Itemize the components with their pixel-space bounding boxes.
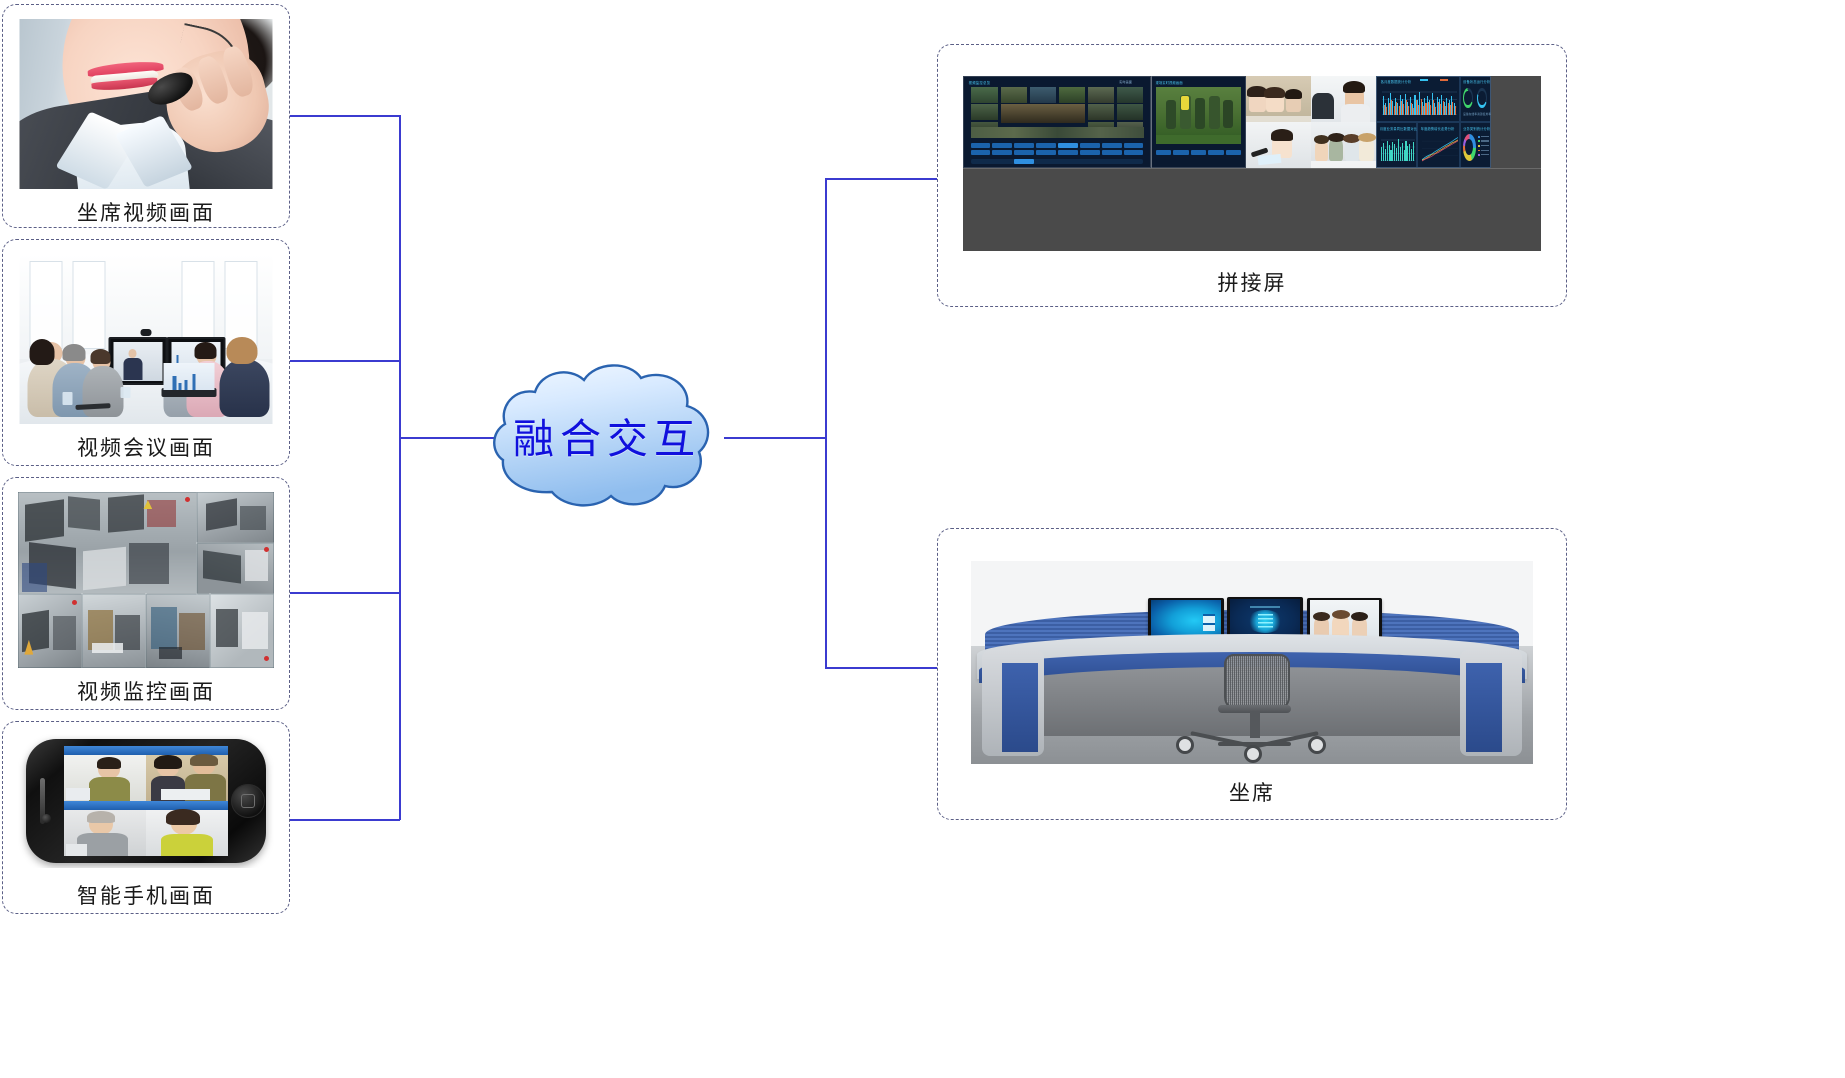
connector-cloud-to-bus-right: [724, 437, 826, 439]
connector-video-surveillance: [289, 592, 400, 594]
agent-desk-thumbnail: [971, 561, 1533, 764]
connector-right-bus: [825, 178, 827, 668]
input-panel-label: 智能手机画面: [3, 880, 289, 910]
agent-video-thumbnail: [20, 19, 273, 189]
output-panel-label: 坐席: [938, 777, 1566, 807]
video-wall-photo: 视频监控总览 实时画面: [963, 76, 1541, 251]
input-panel-video-surveillance[interactable]: 视频监控画面: [2, 477, 290, 710]
connector-agent-desk: [825, 667, 937, 669]
video-conference-thumbnail: [20, 254, 273, 424]
video-wall-thumbnail: 视频监控总览 实时画面: [963, 76, 1541, 251]
connector-agent-video: [289, 115, 400, 117]
connector-video-wall: [825, 178, 937, 180]
agent-headset-photo: [20, 19, 273, 189]
diagram-canvas: 坐席视频画面: [0, 0, 1845, 1078]
input-panel-video-conference[interactable]: 视频会议画面: [2, 239, 290, 466]
input-panel-label: 坐席视频画面: [3, 197, 289, 227]
output-panel-agent-desk[interactable]: 坐席: [937, 528, 1567, 820]
input-panel-label: 视频会议画面: [3, 432, 289, 462]
output-panel-label: 拼接屏: [938, 267, 1566, 297]
console-desk-photo: [971, 561, 1533, 764]
video-surveillance-thumbnail: [18, 492, 274, 668]
cctv-grid-photo: [18, 492, 274, 668]
input-panel-label: 视频监控画面: [3, 676, 289, 706]
smartphone-thumbnail: [18, 734, 274, 868]
input-panel-smartphone[interactable]: 智能手机画面: [2, 721, 290, 914]
output-panel-video-wall[interactable]: 视频监控总览 实时画面: [937, 44, 1567, 307]
smartphone-photo: [18, 734, 274, 868]
connector-left-bus: [399, 115, 401, 820]
cloud-shape: [489, 360, 725, 512]
connector-video-conference: [289, 360, 400, 362]
connector-smartphone: [289, 819, 400, 821]
input-panel-agent-video[interactable]: 坐席视频画面: [2, 4, 290, 228]
conference-room-photo: [20, 254, 273, 424]
center-cloud-node[interactable]: 融合交互: [489, 360, 725, 512]
